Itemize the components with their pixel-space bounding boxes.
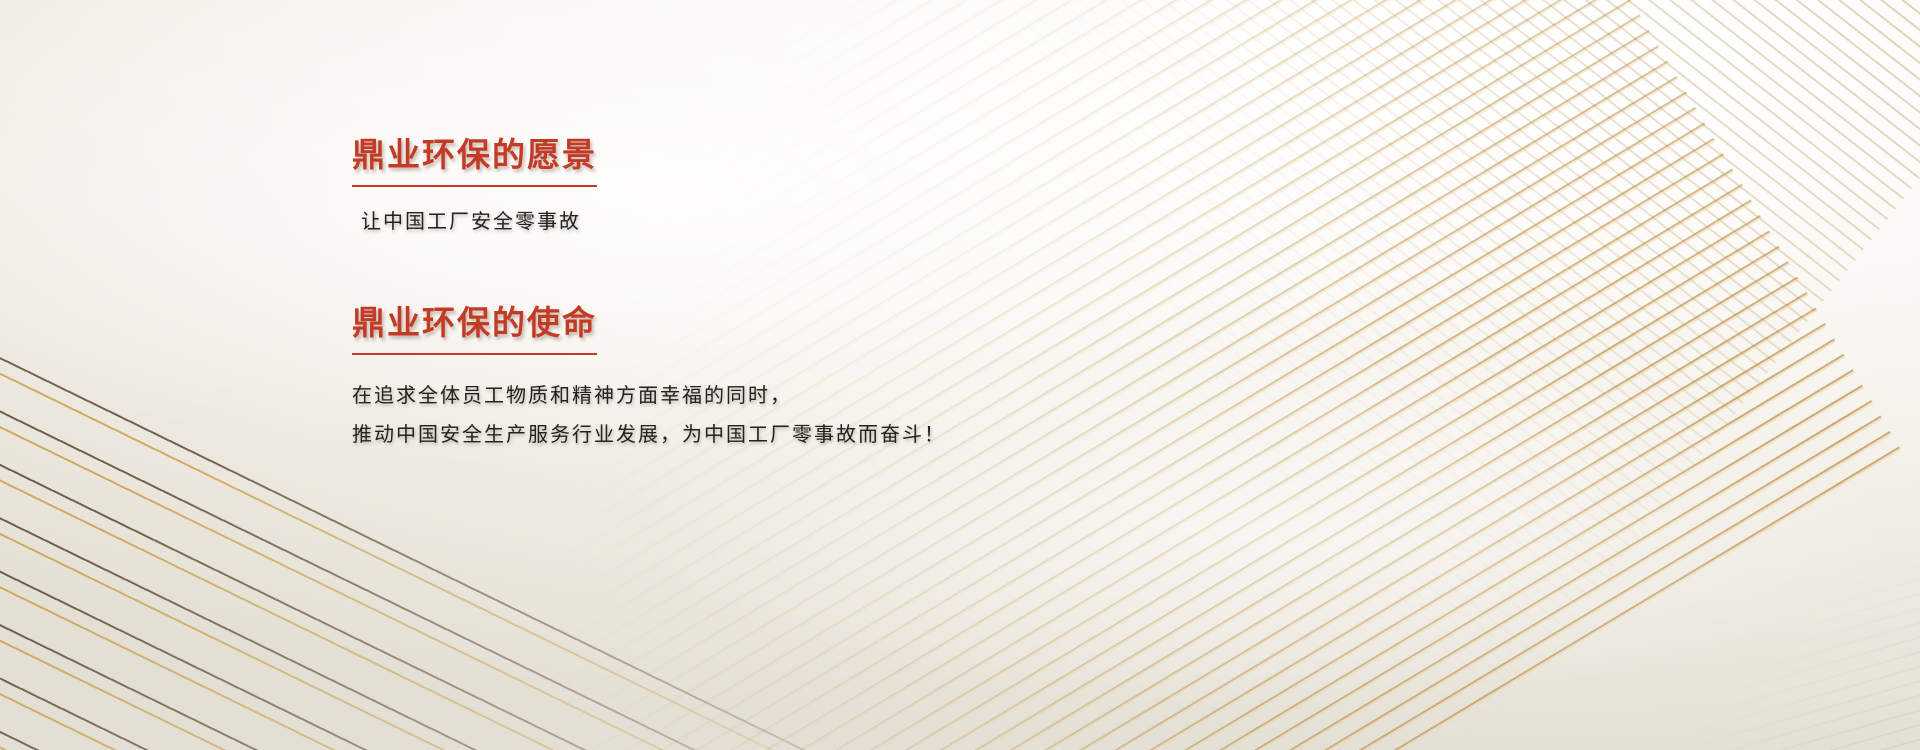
vision-block: 鼎业环保的愿景 让中国工厂安全零事故 [352, 128, 1252, 234]
vision-statement: 让中国工厂安全零事故 [361, 205, 1252, 234]
banner-content: 鼎业环保的愿景 让中国工厂安全零事故 鼎业环保的使命 在追求全体员工物质和精神方… [352, 128, 1252, 455]
vision-mission-banner: 鼎业环保的愿景 让中国工厂安全零事故 鼎业环保的使命 在追求全体员工物质和精神方… [0, 0, 1920, 750]
mission-block: 鼎业环保的使命 在追求全体员工物质和精神方面幸福的同时， 推动中国安全生产服务行… [352, 296, 1252, 455]
mission-statement-line-1: 在追求全体员工物质和精神方面幸福的同时， [352, 377, 1252, 416]
mission-heading: 鼎业环保的使命 [352, 296, 597, 355]
vision-heading: 鼎业环保的愿景 [352, 128, 597, 187]
mission-statement-line-2: 推动中国安全生产服务行业发展，为中国工厂零事故而奋斗！ [352, 416, 1252, 455]
decorative-gold-corner-burst [0, 600, 696, 750]
mission-statement: 在追求全体员工物质和精神方面幸福的同时， 推动中国安全生产服务行业发展，为中国工… [352, 377, 1252, 455]
